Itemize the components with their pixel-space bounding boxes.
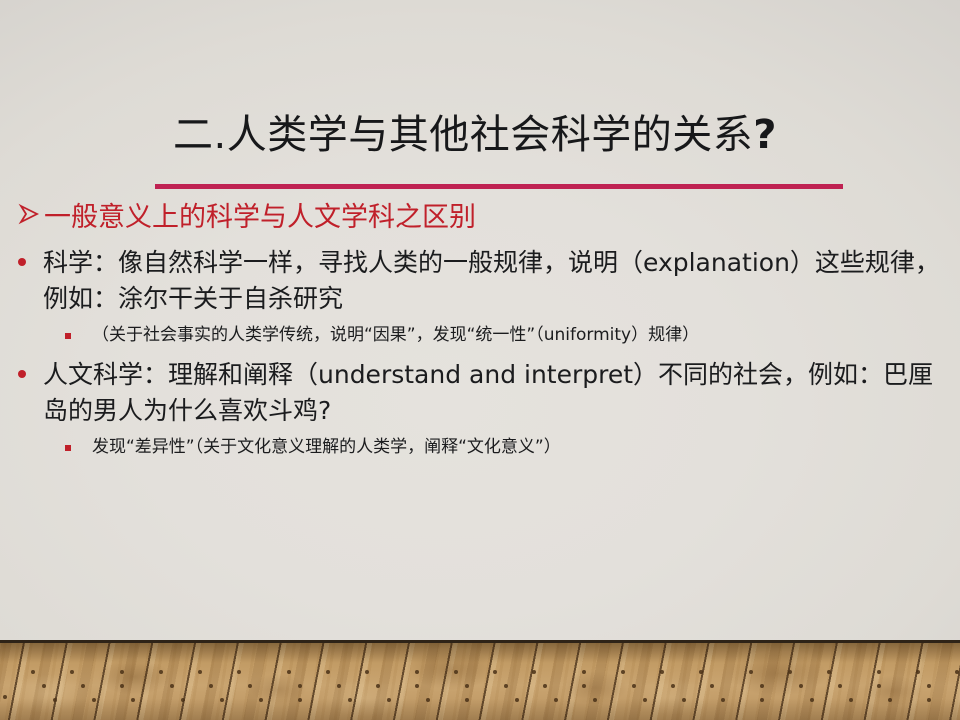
sub-bullet-item-2: 发现“差异性”（关于文化意义理解的人类学，阐释“文化意义”） <box>18 435 942 460</box>
presentation-slide: 二.人类学与其他社会科学的关系? 一般意义上的科学与人文学科之区别 科学：像自然… <box>0 0 960 720</box>
square-bullet-icon <box>65 435 92 451</box>
bullet-item-2-text: 人文科学：理解和阐释（understand and interpret）不同的社… <box>43 357 942 428</box>
floor-shading-overlay <box>0 643 960 720</box>
sub-bullet-item-2-text: 发现“差异性”（关于文化意义理解的人类学，阐释“文化意义”） <box>92 435 942 460</box>
page-title-question-mark: ? <box>753 112 777 158</box>
page-title: 二.人类学与其他社会科学的关系? <box>155 112 845 159</box>
bullet-item-1: 科学：像自然科学一样，寻找人类的一般规律，说明（explanation）这些规律… <box>18 245 942 316</box>
square-bullet-icon <box>65 323 92 339</box>
sub-bullet-item-1-text: （关于社会事实的人类学传统，说明“因果”，发现“统一性”（uniformity）… <box>92 323 942 348</box>
slide-body: 一般意义上的科学与人文学科之区别 科学：像自然科学一样，寻找人类的一般规律，说明… <box>18 200 942 460</box>
section-heading-text: 一般意义上的科学与人文学科之区别 <box>44 200 942 236</box>
sub-bullet-item-1: （关于社会事实的人类学传统，说明“因果”，发现“统一性”（uniformity）… <box>18 323 942 348</box>
page-title-text: 二.人类学与其他社会科学的关系 <box>173 112 753 158</box>
round-bullet-icon <box>18 245 43 266</box>
arrow-right-bullet-icon <box>18 203 44 225</box>
round-bullet-icon <box>18 357 43 378</box>
section-heading: 一般意义上的科学与人文学科之区别 <box>18 200 942 236</box>
title-divider-rule <box>155 184 843 189</box>
title-block: 二.人类学与其他社会科学的关系? <box>155 112 845 159</box>
wooden-floor-image <box>0 640 960 720</box>
bullet-item-1-text: 科学：像自然科学一样，寻找人类的一般规律，说明（explanation）这些规律… <box>43 245 942 316</box>
bullet-item-2: 人文科学：理解和阐释（understand and interpret）不同的社… <box>18 357 942 428</box>
